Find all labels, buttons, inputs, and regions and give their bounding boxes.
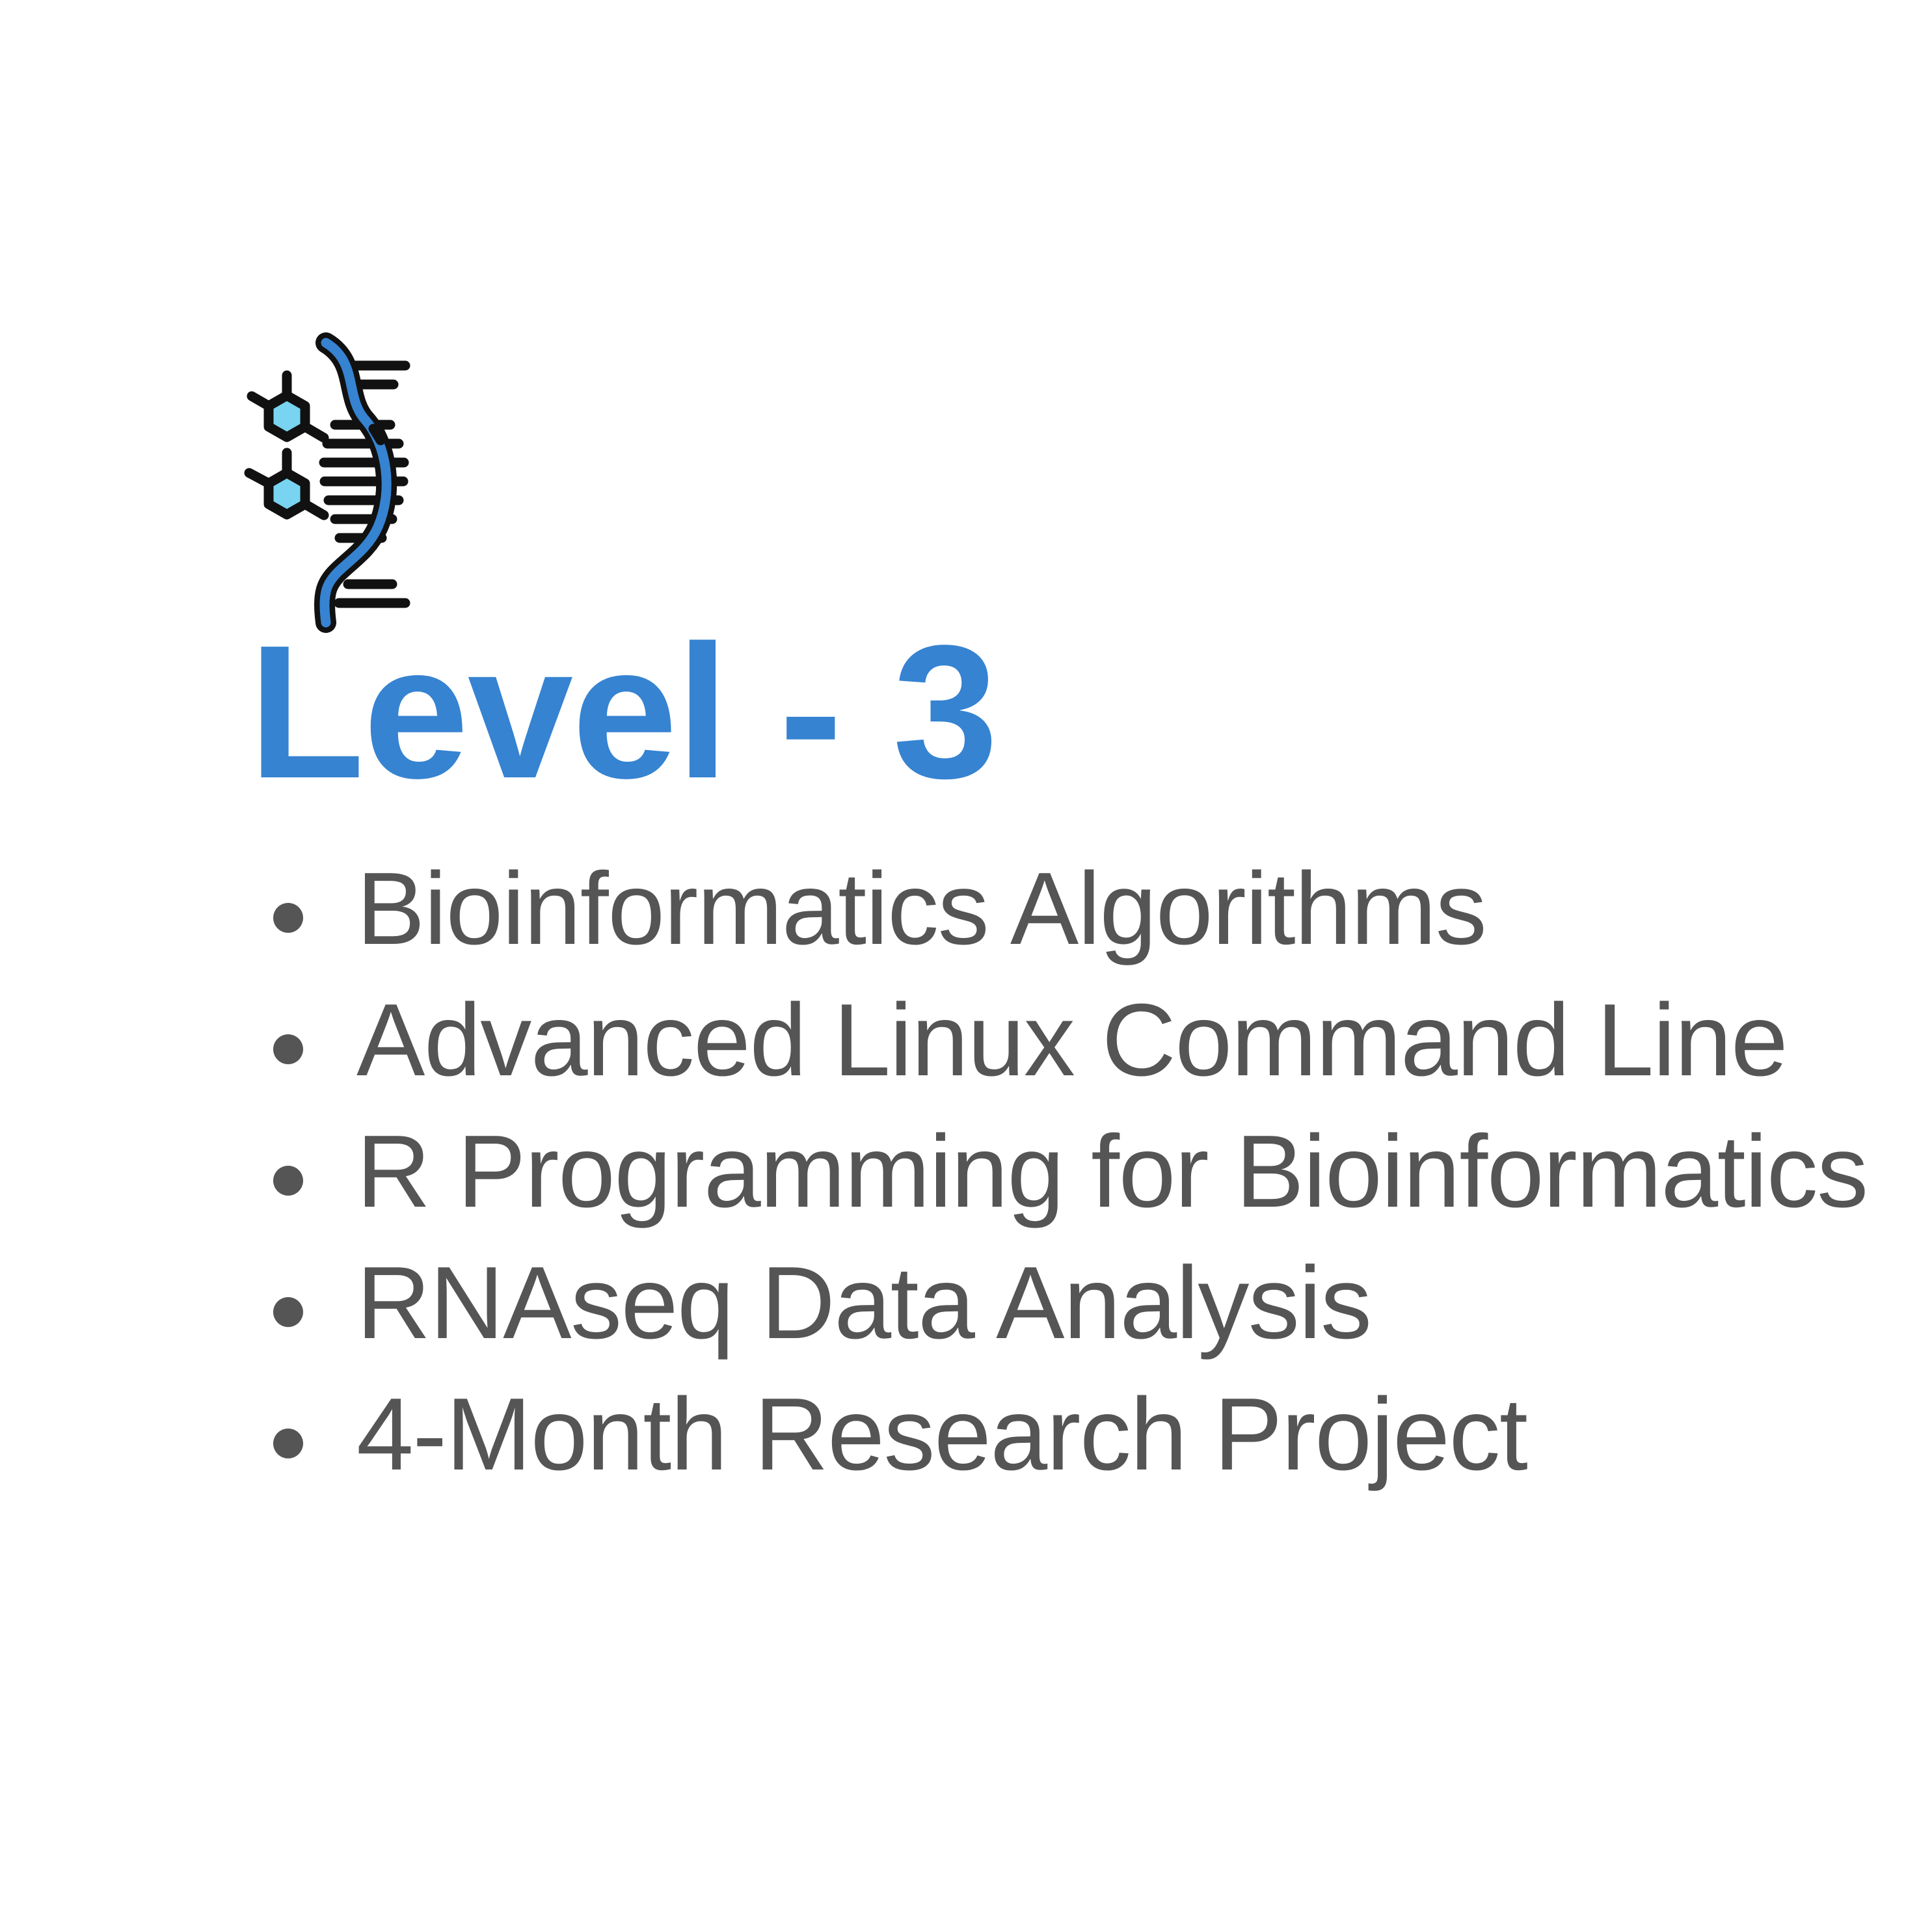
bullet-icon xyxy=(273,903,303,933)
list-item-label: Bioinformatics Algorithms xyxy=(356,857,1486,960)
bullet-icon xyxy=(273,1166,303,1196)
list-item-label: RNAseq Data Analysis xyxy=(356,1252,1371,1354)
list-item: R Programming for Bioinformatics xyxy=(265,1120,1859,1223)
list-item-label: R Programming for Bioinformatics xyxy=(356,1120,1868,1223)
page-title: Level - 3 xyxy=(248,617,997,807)
bullet-icon xyxy=(273,1429,303,1458)
list-item: 4-Month Research Project xyxy=(265,1383,1859,1486)
bullet-icon xyxy=(273,1034,303,1064)
list-item: Advanced Linux Command Line xyxy=(265,989,1859,1092)
list-item: Bioinformatics Algorithms xyxy=(265,857,1859,960)
list-item: RNAseq Data Analysis xyxy=(265,1252,1859,1354)
list-item-label: 4-Month Research Project xyxy=(356,1383,1527,1486)
list-item-label: Advanced Linux Command Line xyxy=(356,989,1787,1092)
dna-molecule-icon xyxy=(231,329,426,641)
bullet-icon xyxy=(273,1297,303,1327)
feature-list: Bioinformatics Algorithms Advanced Linux… xyxy=(265,857,1859,1486)
level-card: Level - 3 Bioinformatics Algorithms Adva… xyxy=(0,0,1932,1932)
